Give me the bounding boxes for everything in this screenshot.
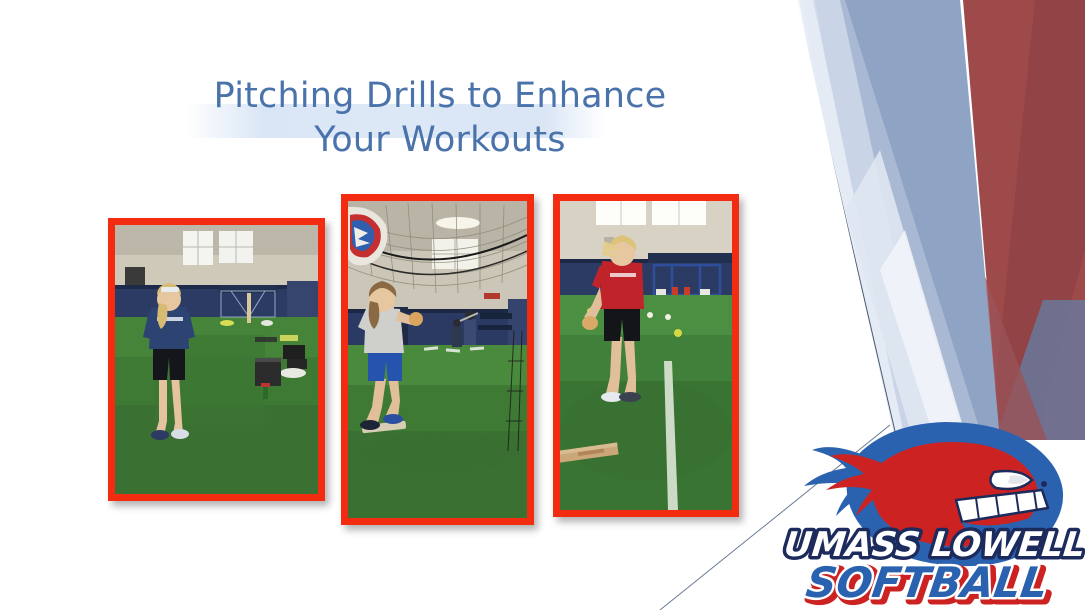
presentation-slide: Pitching Drills to Enhance Your Workouts [0,0,1085,610]
photo-middle-image [348,201,527,518]
logo-text-softball: SOFTBALL SOFTBALL SOFTBALL [803,558,1055,610]
photo-left-image [115,225,318,494]
page-title: Pitching Drills to Enhance Your Workouts [140,74,740,162]
photo-pitching-drill-right[interactable] [553,194,739,517]
photo-right-image [560,201,732,510]
photo-pitching-drill-left[interactable] [108,218,325,501]
decorative-polygon-background [785,0,1085,470]
umass-lowell-softball-logo[interactable]: UMASS LOWELL UMASS LOWELL SOFTBALL SOFTB… [780,416,1085,610]
photo-pitching-drill-middle[interactable] [341,194,534,525]
svg-text:SOFTBALL: SOFTBALL [803,558,1051,607]
